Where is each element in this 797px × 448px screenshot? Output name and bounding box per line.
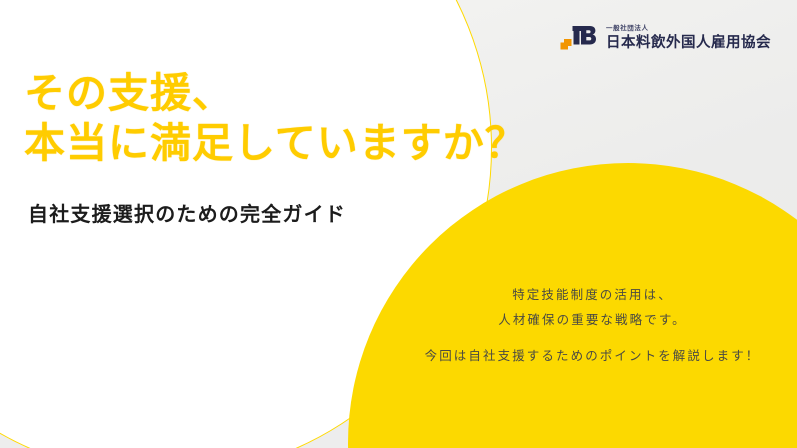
logo-kicker: 一般社団法人 (606, 26, 771, 33)
slide-canvas: 一般社団法人 日本料飲外国人雇用協会 その支援、 本当に満足していますか？ 自社… (0, 0, 797, 448)
body-line-2: 人材確保の重要な戦略です。 (395, 308, 790, 333)
headline-line-2: 本当に満足していますか？ (24, 118, 527, 168)
logo-organization-name: 日本料飲外国人雇用協会 (606, 36, 771, 51)
headline-line-1: その支援、 (24, 68, 527, 118)
headline-block: その支援、 本当に満足していますか？ (24, 68, 527, 168)
organization-logo: 一般社団法人 日本料飲外国人雇用協会 (559, 22, 771, 54)
body-line-1: 特定技能制度の活用は、 (395, 283, 790, 308)
jb-monogram-icon (559, 22, 597, 54)
body-line-3: 今回は自社支援するためのポイントを解説します！ (395, 344, 790, 369)
body-copy-block: 特定技能制度の活用は、 人材確保の重要な戦略です。 今回は自社支援するためのポイ… (395, 283, 790, 369)
logo-text-block: 一般社団法人 日本料飲外国人雇用協会 (606, 26, 771, 50)
subtitle: 自社支援選択のための完全ガイド (28, 198, 346, 227)
